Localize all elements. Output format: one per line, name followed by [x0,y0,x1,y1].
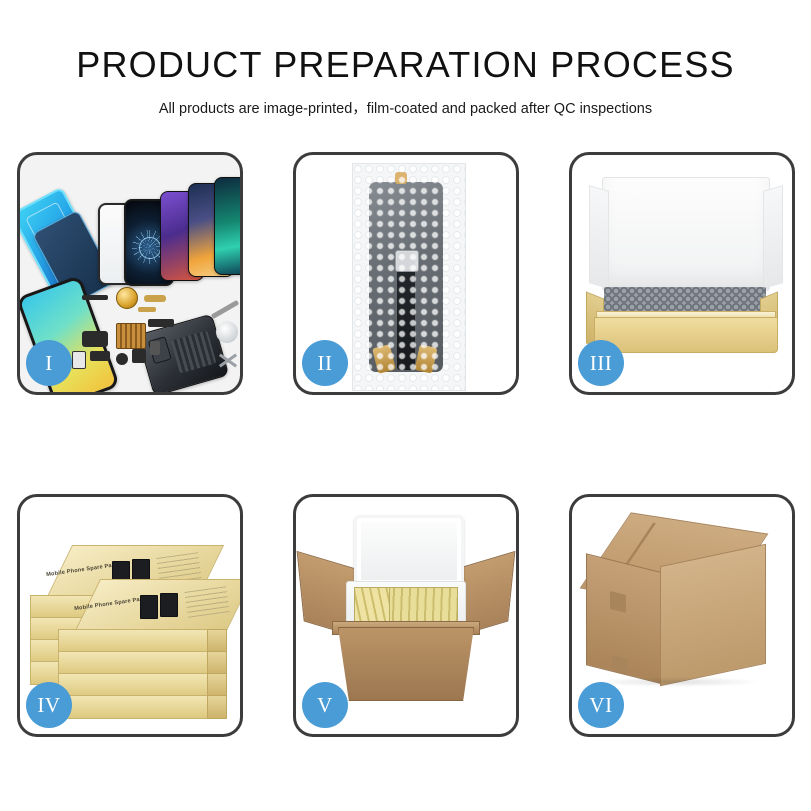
step-badge-1: I [26,340,72,386]
screwdriver-cross-icon [218,351,238,371]
box-side-front-4 [207,695,227,719]
white-box-lid [602,177,770,291]
box-screen-image-front-1 [140,595,158,619]
step-badge-4: IV [26,682,72,728]
page-title: PRODUCT PREPARATION PROCESS [0,0,811,86]
camera-module-part-icon [132,349,146,363]
gold-flex-cable-icon [144,295,166,302]
header: PRODUCT PREPARATION PROCESS All products… [0,0,811,118]
box-front-panel [594,317,778,353]
box-screen-image-front-2 [160,593,178,617]
step-badge-3: III [578,340,624,386]
page-subtitle: All products are image-printed，film-coat… [0,86,811,118]
lcd-gold-contact-top-icon [395,172,407,184]
step-badge-6: VI [578,682,624,728]
box-side-front-1 [207,629,227,653]
tweezers-icon [211,300,239,319]
battery-connector-part-icon [150,341,160,355]
carton-tape-upper [610,591,626,613]
process-step-panel-3[interactable]: III [569,152,795,395]
box-slab-front-1 [58,629,210,653]
box-slab-front-3 [58,673,210,697]
foam-box-lid [354,515,464,587]
process-step-grid: I II [17,152,795,737]
round-tool-icon [216,321,238,343]
step-badge-2: II [302,340,348,386]
process-step-panel-2[interactable]: II [293,152,519,395]
process-step-panel-5[interactable]: V [293,494,519,737]
process-step-panel-4[interactable]: Mobile Phone Spare Parts Mobile Phone Sp… [17,494,243,737]
carton-front-panel [338,627,474,701]
earpiece-mesh-part-icon [82,295,108,300]
gold-coil-part-icon [116,287,138,309]
small-flex-part-icon [90,351,110,361]
step-badge-5: V [302,682,348,728]
gold-connector-part-icon [138,307,156,312]
bubble-wrap-bag [352,163,466,391]
chip-grid-part-icon [116,323,146,349]
carton-right-face [660,544,766,687]
sim-tray-part-icon [72,351,86,369]
flex-cable-part-icon [82,331,108,347]
lcd-connector-icon [395,250,419,272]
box-slab-front-2 [58,651,210,675]
process-step-panel-6[interactable]: VI [569,494,795,737]
teal-phone-icon [214,177,243,275]
process-step-panel-1[interactable]: I [17,152,243,395]
home-button-part-icon [116,353,128,365]
carton-drop-shadow [592,677,762,687]
box-side-front-3 [207,673,227,697]
ribbon-cable-part-icon [148,319,174,327]
box-slab-front-4 [58,695,210,719]
product-preparation-process-page: PRODUCT PREPARATION PROCESS All products… [0,0,811,811]
box-side-front-2 [207,651,227,675]
